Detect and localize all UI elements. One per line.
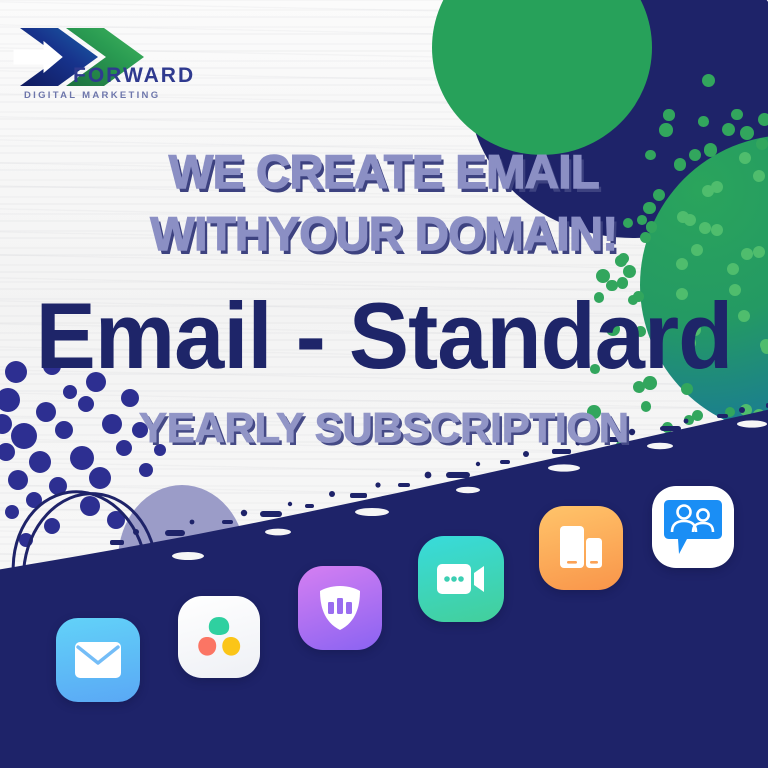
logo-wordmark: FORWARD	[73, 64, 195, 88]
shield-app-icon[interactable]	[298, 566, 382, 650]
envelope-icon	[74, 641, 122, 679]
logo-tagline: DIGITAL MARKETING	[24, 90, 160, 101]
video-app-icon[interactable]	[418, 536, 504, 622]
mail-app-icon[interactable]	[56, 618, 140, 702]
group-chat-bubble-icon	[663, 496, 723, 558]
subscription-subtitle: YEARLY SUBSCRIPTION	[4, 404, 764, 452]
promo-poster: FORWARD DIGITAL MARKETING WE CREATE EMAI…	[0, 0, 768, 768]
headline: WE CREATE EMAIL WITHYOUR DOMAIN!	[0, 141, 768, 265]
shield-bars-icon	[316, 584, 364, 632]
headline-line-2: WITHYOUR DOMAIN!	[0, 203, 768, 265]
video-camera-icon	[436, 562, 486, 596]
tablet-phone-icon	[558, 524, 604, 572]
page-title: Email - Standard	[15, 288, 752, 384]
people-chat-app-icon[interactable]	[652, 486, 734, 568]
three-blobs-icon	[196, 615, 242, 659]
devices-app-icon[interactable]	[539, 506, 623, 590]
blobs-app-icon[interactable]	[178, 596, 260, 678]
headline-line-1: WE CREATE EMAIL	[0, 141, 768, 203]
brand-logo[interactable]: FORWARD DIGITAL MARKETING	[14, 26, 194, 108]
